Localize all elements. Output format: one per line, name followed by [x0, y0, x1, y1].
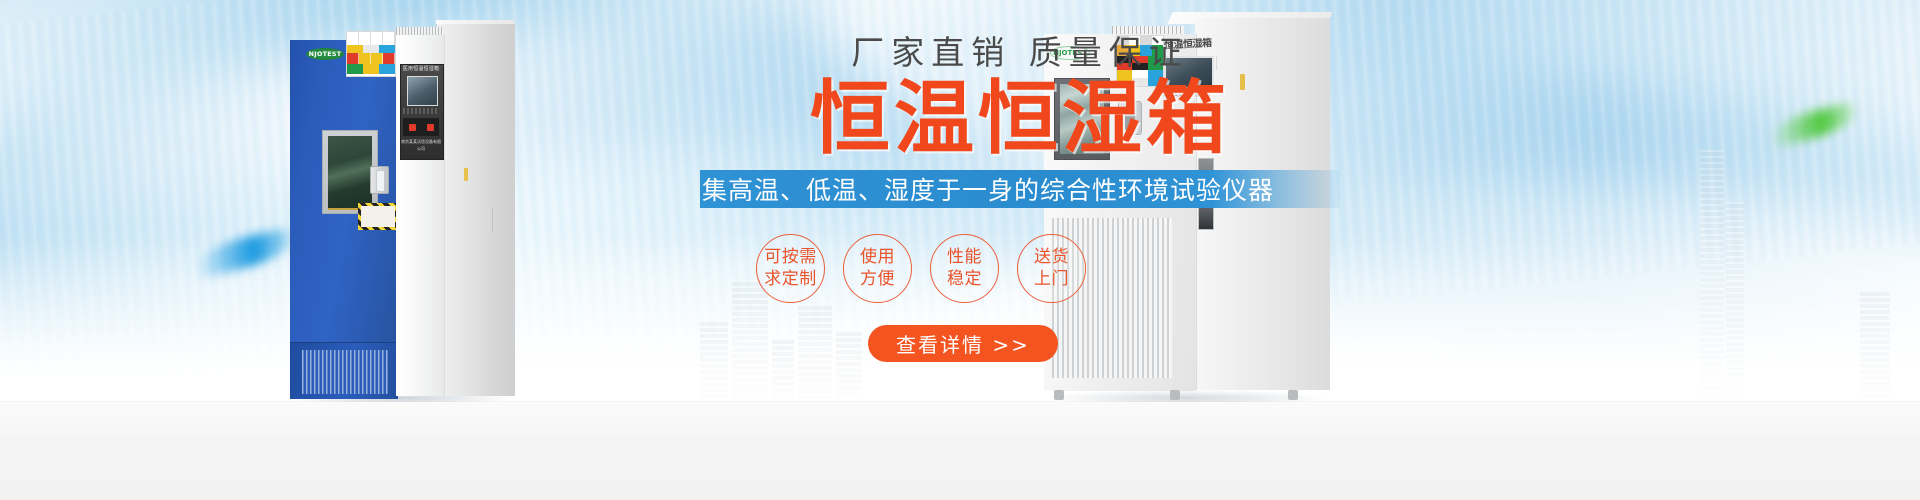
floor-strip [0, 402, 1920, 500]
brand-logo-njotest: NJOTEST [306, 48, 344, 60]
badge-line-1: 使用 [860, 246, 895, 268]
hazard-warning-label [358, 203, 398, 230]
controller-panel-title: 医用恒温恒湿箱 [400, 65, 442, 74]
skyline-tower [1726, 202, 1744, 400]
base-vent-grille [302, 350, 388, 394]
cta-container: 查看详情 >> [700, 325, 1340, 362]
tagline: 厂家直销 质量保证 [700, 34, 1340, 72]
badge-line-2: 方便 [860, 268, 895, 290]
controller-footer-text: 南京某某试验设备有限公司 [401, 138, 441, 152]
subtitle-text: 集高温、低温、湿度于一身的综合性环境试验仪器 [702, 171, 1274, 207]
viewing-window-glass [328, 136, 372, 210]
controller-buttons[interactable] [403, 118, 439, 136]
feature-badge-list: 可按需 求定制 使用 方便 性能 稳定 送货 上门 [700, 234, 1340, 303]
feature-badge-stable[interactable]: 性能 稳定 [930, 234, 999, 303]
caster-foot [1054, 390, 1064, 400]
badge-line-2: 上门 [1034, 268, 1069, 290]
caster-foot [1288, 390, 1298, 400]
badge-line-1: 性能 [947, 246, 982, 268]
subtitle-bar: 集高温、低温、湿度于一身的综合性环境试验仪器 [700, 170, 1340, 208]
badge-line-1: 可按需 [764, 246, 817, 268]
marketing-copy-block: 厂家直销 质量保证 恒温恒湿箱 集高温、低温、湿度于一身的综合性环境试验仪器 可… [700, 34, 1340, 362]
skyline-tower [1700, 150, 1724, 400]
door-handle [370, 166, 389, 194]
controller-label-strip [403, 108, 439, 114]
product-image-left-blue-chamber: NJOTEST 医用恒温恒湿箱 南京某某试验设备有限公司 [284, 18, 514, 400]
chassis-side-panel [436, 24, 515, 396]
safety-label-cluster [346, 31, 396, 77]
feature-badge-custom[interactable]: 可按需 求定制 [756, 234, 825, 303]
view-details-button[interactable]: 查看详情 >> [868, 325, 1058, 362]
feature-badge-easy-use[interactable]: 使用 方便 [843, 234, 912, 303]
control-column-vent [396, 27, 444, 35]
page-title: 恒温恒湿箱 [700, 78, 1340, 160]
panel-seam [492, 208, 493, 232]
indicator-amber-icon [464, 168, 468, 181]
skyline-tower [1860, 290, 1890, 400]
caster-foot [1170, 390, 1180, 400]
badge-line-2: 求定制 [764, 268, 817, 290]
controller-touchscreen[interactable] [407, 76, 438, 106]
feature-badge-delivery[interactable]: 送货 上门 [1017, 234, 1086, 303]
product-banner: NJOTEST 医用恒温恒湿箱 南京某某试验设备有限公司 NJOTEST [0, 0, 1920, 500]
badge-line-2: 稳定 [947, 268, 982, 290]
badge-line-1: 送货 [1034, 246, 1069, 268]
